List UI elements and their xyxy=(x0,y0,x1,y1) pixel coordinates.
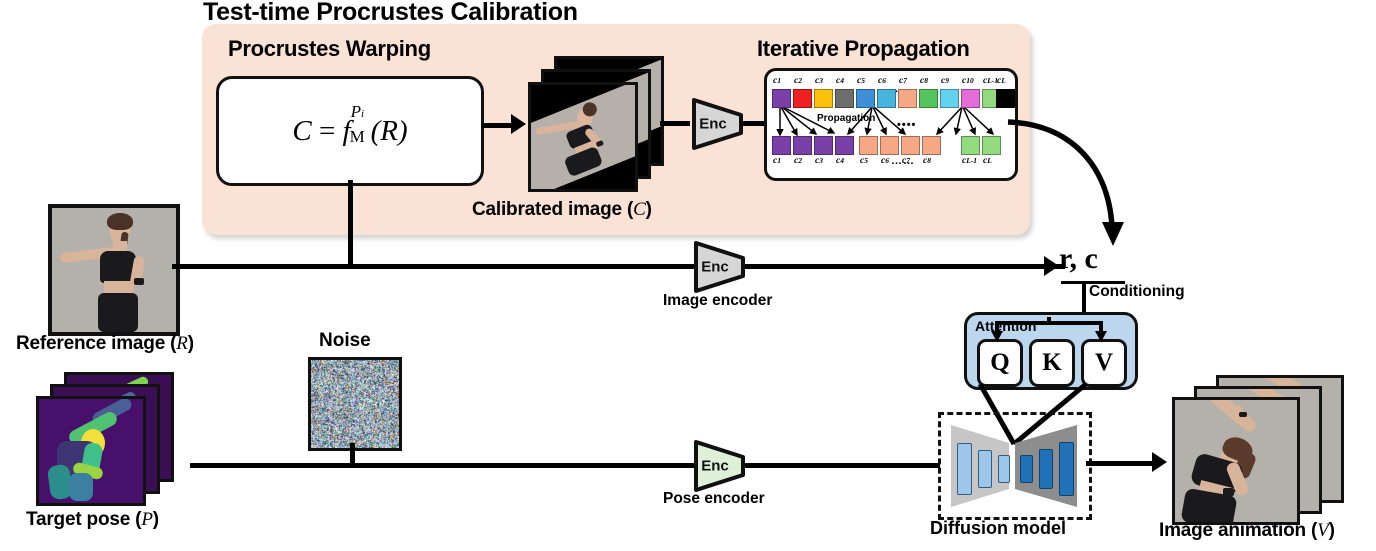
prop-bottom-label-7: c7 xyxy=(902,156,910,166)
unet-dec-bar-2 xyxy=(1039,449,1053,489)
prop-top-square-6 xyxy=(877,89,896,108)
image-animation-stack xyxy=(1172,375,1372,515)
pose-encoder-caption: Pose encoder xyxy=(663,490,765,508)
prop-top-square-10 xyxy=(961,89,980,108)
reference-photo xyxy=(52,208,176,332)
unet-enc-bar-3 xyxy=(998,455,1010,483)
prop-bottom-label-3: c3 xyxy=(815,156,823,166)
image-animation-caption: Image animation (V) xyxy=(1159,520,1335,542)
output-frame-front xyxy=(1172,397,1300,525)
line-enc-to-propagation xyxy=(740,121,766,126)
procrustes-warping-title: Procrustes Warping xyxy=(228,36,431,62)
prop-top-label-6: c6 xyxy=(878,76,886,86)
noise-label: Noise xyxy=(319,330,371,352)
prop-bottom-square-3 xyxy=(814,136,833,155)
prop-top-square-5 xyxy=(856,89,875,108)
formula-sup-sub: i xyxy=(361,108,364,120)
prop-top-label-11: cL-1 xyxy=(983,76,998,86)
pose-frame-front xyxy=(36,396,146,506)
target-pose-caption-var: P xyxy=(141,509,152,530)
reference-to-conditioning-line xyxy=(172,264,1065,269)
prop-bottom-square-10 xyxy=(982,136,1001,155)
prop-bottom-label-6: c6 xyxy=(881,156,889,166)
target-pose-caption-text: Target pose xyxy=(26,509,130,530)
calibrated-image-caption-text: Calibrated image xyxy=(472,199,622,220)
prop-top-square-7 xyxy=(898,89,917,108)
prop-bottom-square-2 xyxy=(793,136,812,155)
prop-top-square-9 xyxy=(940,89,959,108)
image-animation-caption-text: Image animation xyxy=(1159,520,1306,541)
arrow-formula-to-calibrated-line xyxy=(482,123,512,128)
prop-bottom-square-5 xyxy=(859,136,878,155)
prop-bottom-square-1 xyxy=(772,136,791,155)
prop-bottom-label-1: c1 xyxy=(773,156,781,166)
conditioning-symbol: r, c xyxy=(1059,242,1098,276)
prop-top-square-8 xyxy=(919,89,938,108)
calibrated-image-caption: Calibrated image (C) xyxy=(472,199,652,221)
calibrated-image-caption-var: C xyxy=(633,199,645,220)
prop-top-label-12: cL xyxy=(997,76,1006,86)
prop-top-square-3 xyxy=(814,89,833,108)
arrow-formula-to-calibrated-head xyxy=(511,114,526,134)
pose-to-diffusion-line xyxy=(190,463,940,468)
noise-image xyxy=(308,357,402,451)
conditioning-to-attention-line xyxy=(1082,281,1086,315)
diffusion-model-box xyxy=(938,412,1092,520)
image-encoder[interactable]: Enc xyxy=(690,240,752,294)
unet-dec-bar-3 xyxy=(1059,442,1074,496)
prop-top-label-4: c4 xyxy=(836,76,844,86)
conditioning-fanout-arrows xyxy=(967,311,1135,351)
calibration-encoder-label: Enc xyxy=(688,116,738,133)
prop-bottom-square-8 xyxy=(922,136,941,155)
reference-image-caption-var: R xyxy=(176,333,187,354)
prop-top-square-12 xyxy=(996,89,1015,108)
unet-enc-bar-2 xyxy=(978,450,992,488)
arrow-into-conditioning xyxy=(1044,256,1059,276)
pose-encoder-label: Enc xyxy=(690,458,740,475)
attention-block: Attention Q K V xyxy=(964,312,1138,390)
image-animation-caption-var: V xyxy=(1317,520,1328,541)
prop-top-label-9: c9 xyxy=(941,76,949,86)
propagation-arrows xyxy=(767,71,1015,178)
formula-arg: (R) xyxy=(371,115,408,147)
prop-top-square-4 xyxy=(835,89,854,108)
prop-bottom-label-8: c8 xyxy=(923,156,931,166)
calibrated-image-stack xyxy=(528,56,663,191)
line-calibrated-to-enc xyxy=(660,121,690,126)
prop-top-square-1 xyxy=(772,89,791,108)
unet-dec-bar-1 xyxy=(1020,455,1033,483)
prop-top-label-7: c7 xyxy=(899,76,907,86)
formula-to-reference-branch-line xyxy=(348,180,353,266)
prop-bottom-label-2: c2 xyxy=(794,156,802,166)
target-pose-stack xyxy=(36,372,196,504)
prop-bottom-square-4 xyxy=(835,136,854,155)
image-encoder-caption: Image encoder xyxy=(663,292,772,310)
prop-top-label-2: c2 xyxy=(794,76,802,86)
diffusion-model-caption: Diffusion model xyxy=(930,518,1066,539)
arrow-propagation-to-conditioning xyxy=(1000,110,1130,260)
formula-lhs: C xyxy=(292,115,311,147)
prop-top-label-3: c3 xyxy=(815,76,823,86)
prop-top-label-8: c8 xyxy=(920,76,928,86)
conditioning-label: Conditioning xyxy=(1089,283,1185,301)
reference-image-caption-text: Reference image xyxy=(16,333,165,354)
prop-top-label-1: c1 xyxy=(773,76,781,86)
prop-bottom-square-9 xyxy=(961,136,980,155)
prop-bottom-square-7 xyxy=(901,136,920,155)
formula-sup: P xyxy=(351,102,361,121)
prop-top-label-5: c5 xyxy=(857,76,865,86)
procrustes-formula-box: C = fPiM(R) xyxy=(216,76,484,186)
prop-top-square-2 xyxy=(793,89,812,108)
formula-scripts: PiM xyxy=(351,118,371,147)
arrow-to-output xyxy=(1152,452,1167,472)
reference-image xyxy=(48,204,180,336)
prop-bottom-label-4: c4 xyxy=(836,156,844,166)
prop-bottom-label-9: cL-1 xyxy=(962,156,977,166)
diffusion-to-output-line xyxy=(1086,461,1158,466)
unet-enc-bar-1 xyxy=(957,443,972,495)
prop-bottom-square-6 xyxy=(880,136,899,155)
iterative-propagation-title: Iterative Propagation xyxy=(757,36,970,62)
prop-top-label-10: c10 xyxy=(962,76,974,86)
iterative-propagation-box: Propagation …… •••• …… c1c2c3c4c5c6c7c8c… xyxy=(764,68,1018,181)
pose-encoder[interactable]: Enc xyxy=(690,439,752,493)
page-title: Test-time Procrustes Calibration xyxy=(203,0,578,27)
formula-equals: = xyxy=(319,115,335,147)
calibrated-frame-front xyxy=(528,82,638,192)
reference-image-caption: Reference image (R) xyxy=(16,333,194,355)
procrustes-formula: C = fPiM(R) xyxy=(292,115,407,148)
image-encoder-label: Enc xyxy=(690,259,740,276)
prop-bottom-label-5: c5 xyxy=(860,156,868,166)
prop-bottom-label-10: cL xyxy=(983,156,992,166)
target-pose-caption: Target pose (P) xyxy=(26,509,159,531)
formula-sub: M xyxy=(350,127,365,146)
